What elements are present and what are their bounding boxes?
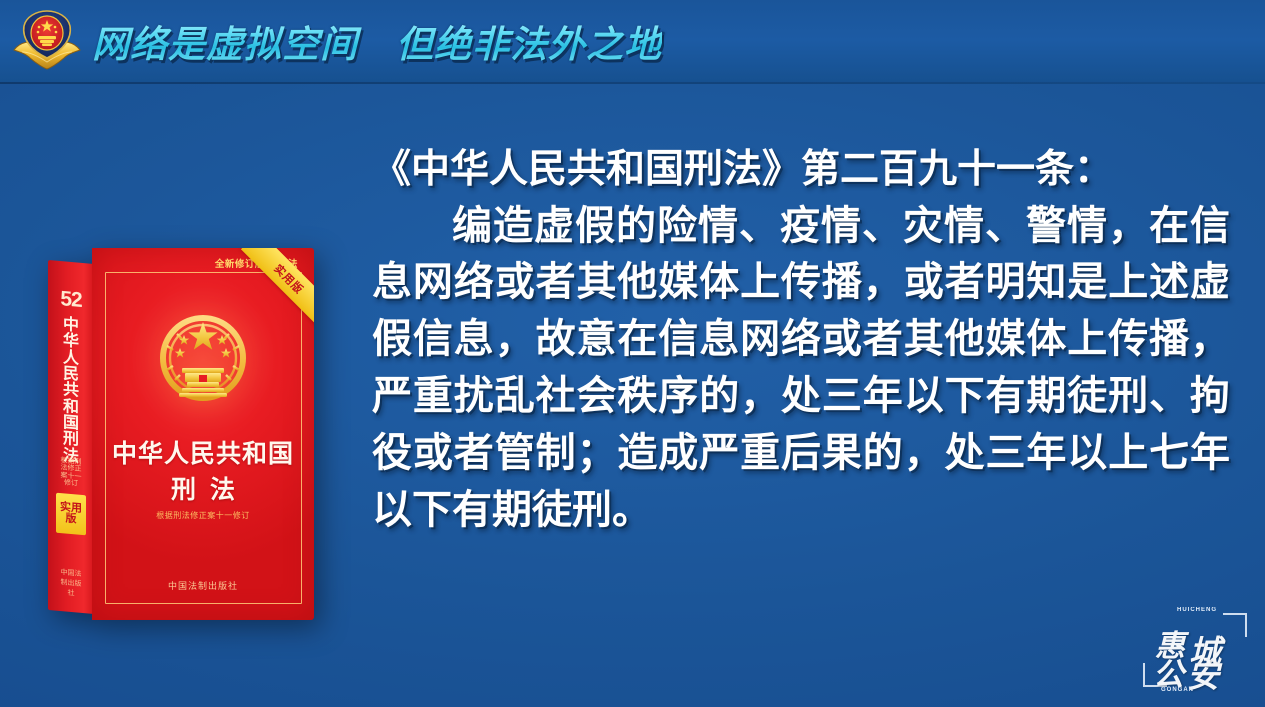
book-spine-publisher: 中国法制出版社 — [48, 566, 94, 600]
book-cover: 全新修订版 · 刑 法 实用版 — [92, 248, 314, 620]
book-spine-subtitle: 根据刑法修正案十一修订 — [48, 456, 94, 489]
header-slogan: 网络是虚拟空间 但绝非法外之地 — [92, 14, 662, 68]
book-cover-title-line2: 刑法 — [92, 470, 314, 506]
book-spine-number: 52 — [48, 286, 94, 314]
slide-root: 网络是虚拟空间 但绝非法外之地 网络是虚拟空间 但绝非法外之地 52 中华人民共… — [0, 0, 1265, 707]
law-text-block: 《中华人民共和国刑法》第二百九十一条： 编造虚假的险情、疫情、灾情、警情，在信息… — [372, 146, 1230, 538]
huicheng-police-watermark: HUICHENG 惠 城 公 安 GONGAN — [1143, 607, 1247, 691]
watermark-pinyin-top: HUICHENG — [1177, 607, 1217, 613]
criminal-law-book-image: 52 中华人民共和国刑法 根据刑法修正案十一修订 实用版 中国法制出版社 全新修… — [48, 248, 314, 620]
book-spine-tag: 实用版 — [56, 493, 86, 536]
national-emblem-icon — [149, 306, 257, 414]
law-article-title: 《中华人民共和国刑法》第二百九十一条： — [372, 146, 1230, 194]
law-article-body: 编造虚假的险情、疫情、灾情、警情，在信息网络或者其他媒体上传播，或者明知是上述虚… — [372, 198, 1230, 539]
watermark-characters: 惠 城 公 安 — [1153, 617, 1241, 683]
header-bar: 网络是虚拟空间 但绝非法外之地 网络是虚拟空间 但绝非法外之地 — [0, 0, 1265, 84]
police-badge-icon — [10, 6, 84, 78]
watermark-pinyin-bottom: GONGAN — [1161, 687, 1194, 693]
book-spine: 52 中华人民共和国刑法 根据刑法修正案十一修订 实用版 中国法制出版社 — [48, 260, 94, 614]
book-spine-title: 中华人民共和国刑法 — [48, 316, 94, 467]
book-cover-note: 根据刑法修正案十一修订 — [92, 510, 314, 521]
book-cover-title-line1: 中华人民共和国 — [92, 434, 314, 470]
book-cover-publisher: 中国法制出版社 — [92, 579, 314, 592]
